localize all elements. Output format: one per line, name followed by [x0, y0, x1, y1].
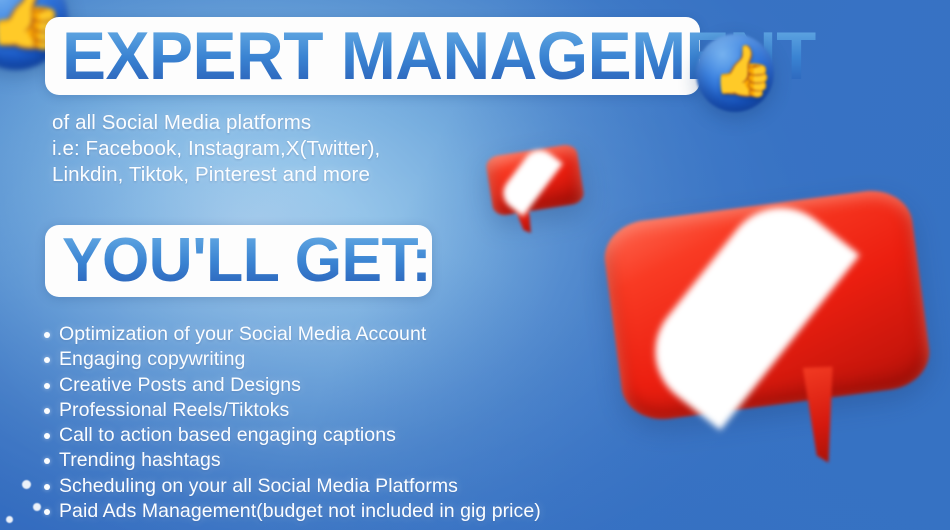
offer-heading: YOU'LL GET: [62, 226, 431, 296]
thumbs-up-glyph: 👍 [712, 46, 774, 96]
list-item: Trending hashtags [42, 448, 541, 473]
speckle-dot [22, 480, 31, 489]
subtitle-line-1: of all Social Media platforms [52, 110, 380, 136]
promo-graphic: 👍 EXPERT MANAGEMENT 👍 of all Social Medi… [0, 0, 950, 530]
list-item: Professional Reels/Tiktoks [42, 398, 541, 423]
list-item: Optimization of your Social Media Accoun… [42, 322, 541, 347]
subtitle-line-3: Linkdin, Tiktok, Pinterest and more [52, 162, 380, 188]
speckle-dot [6, 516, 13, 523]
heart-reaction-icon [600, 186, 933, 425]
list-item: Call to action based engaging captions [42, 423, 541, 448]
list-item: Paid Ads Management(budget not included … [42, 499, 541, 524]
list-item: Engaging copywriting [42, 347, 541, 372]
subtitle-block: of all Social Media platforms i.e: Faceb… [52, 110, 380, 188]
subtitle-line-2: i.e: Facebook, Instagram,X(Twitter), [52, 136, 380, 162]
list-item: Creative Posts and Designs [42, 373, 541, 398]
list-item: Scheduling on your all Social Media Plat… [42, 474, 541, 499]
offer-list: Optimization of your Social Media Accoun… [42, 322, 541, 524]
thumbs-up-icon: 👍 [696, 34, 774, 112]
speckle-dot [33, 503, 41, 511]
